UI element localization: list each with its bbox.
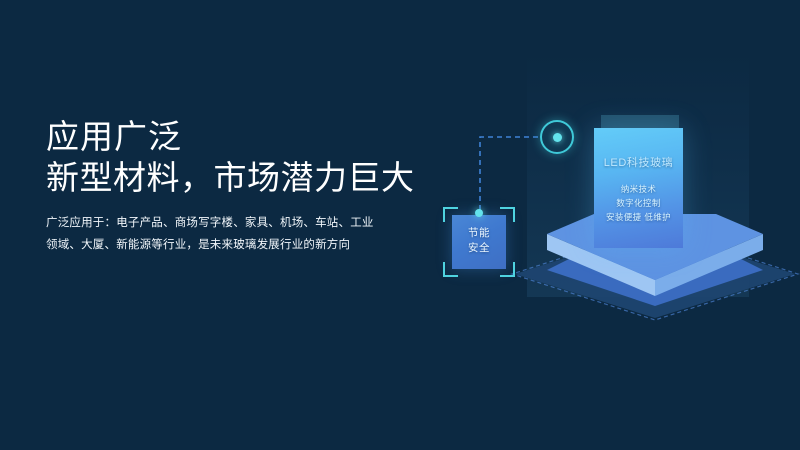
- bracket-top-right-icon: [500, 207, 515, 222]
- glass-panel-feature-list: 纳米技术 数字化控制 安装便捷 低维护: [594, 182, 683, 224]
- glass-panel-feature: 数字化控制: [594, 196, 683, 210]
- bracket-bottom-right-icon: [500, 262, 515, 277]
- slide-canvas: LED科技玻璃 纳米技术 数字化控制 安装便捷 低维护 节能 安全 应用广泛 新…: [0, 0, 800, 450]
- glass-panel-feature: 纳米技术: [594, 182, 683, 196]
- glass-panel-feature: 安装便捷 低维护: [594, 210, 683, 224]
- feature-badge-line1: 节能: [452, 226, 506, 241]
- connector-node-core: [553, 133, 562, 142]
- bracket-bottom-left-icon: [443, 262, 458, 277]
- feature-badge: 节能 安全: [443, 207, 515, 277]
- headline-line-1: 应用广泛: [46, 116, 446, 157]
- feature-badge-box: 节能 安全: [452, 215, 506, 269]
- feature-badge-text: 节能 安全: [452, 226, 506, 256]
- text-block: 应用广泛 新型材料，市场潜力巨大 广泛应用于：电子产品、商场写字楼、家具、机场、…: [46, 116, 446, 256]
- glass-panel-title: LED科技玻璃: [594, 154, 683, 170]
- headline-line-2: 新型材料，市场潜力巨大: [46, 157, 446, 198]
- body-paragraph: 广泛应用于：电子产品、商场写字楼、家具、机场、车站、工业领域、大厦、新能源等行业…: [46, 212, 376, 256]
- connector-node-icon: [540, 120, 574, 154]
- feature-badge-dot-icon: [475, 209, 483, 217]
- feature-badge-line2: 安全: [452, 241, 506, 256]
- glass-panel: LED科技玻璃 纳米技术 数字化控制 安装便捷 低维护: [594, 128, 683, 248]
